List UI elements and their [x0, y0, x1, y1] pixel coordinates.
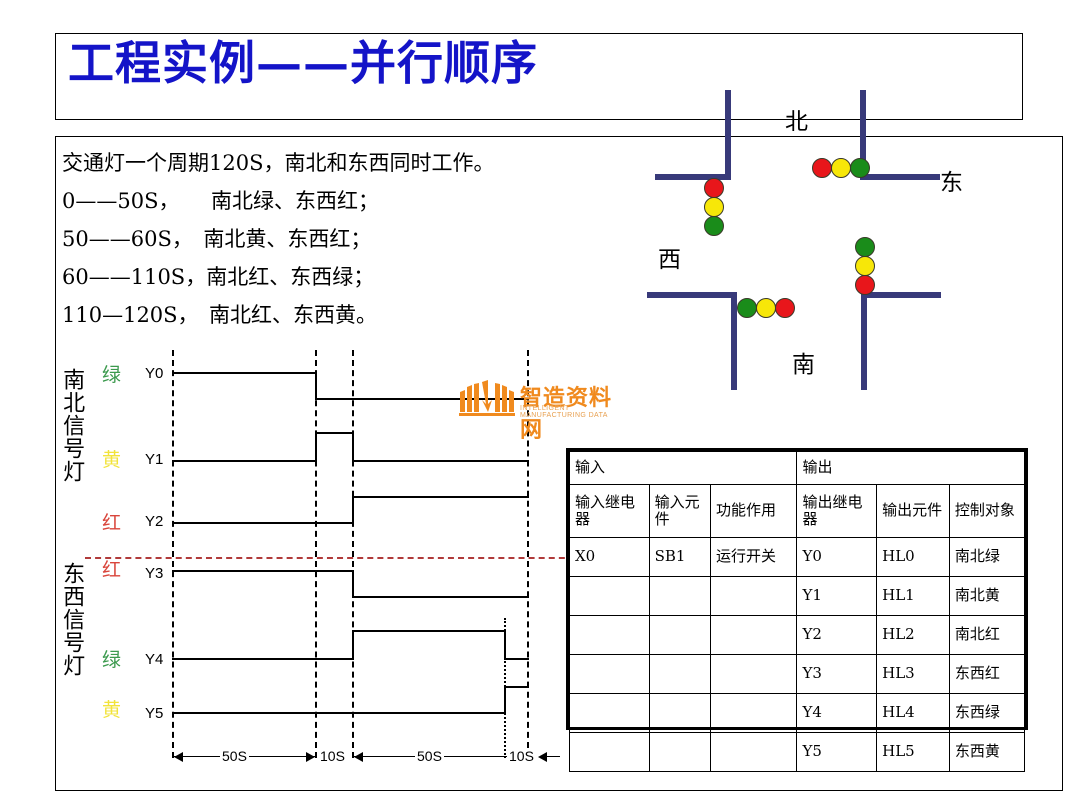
cell-target-2: 南北红: [949, 616, 1024, 655]
timing-color-label-y1: 黄: [102, 445, 121, 472]
timing-signal-label-y5: Y5: [145, 705, 163, 722]
traffic-light-nw-green: [704, 216, 724, 236]
waveform-y1-rise: [315, 432, 317, 462]
timing-dim-arrow-4-left: [538, 752, 547, 762]
table-col-header-output-relay: 输出继电器: [797, 485, 877, 538]
cell-in-relay-5: [570, 733, 650, 772]
table-col-header-input-part: 输入元件: [649, 485, 710, 538]
waveform-y1-low-a: [172, 460, 317, 462]
description-line-5: 110—120S， 南北红、东西黄。: [62, 296, 582, 334]
traffic-light-se-yellow: [855, 256, 875, 276]
cell-out-relay-1: Y1: [797, 577, 877, 616]
waveform-y5-rise: [504, 686, 506, 714]
io-table: 输入 输出 输入继电器 输入元件 功能作用 输出继电器 输出元件 控制对象 X0…: [566, 448, 1028, 730]
road-ne-horizontal: [860, 174, 940, 180]
waveform-y0-high: [172, 372, 317, 374]
table-group-header-input: 输入: [570, 452, 797, 485]
direction-label-north: 北: [785, 102, 808, 136]
timing-dim-arrow-1-right: [306, 752, 315, 762]
table-row: Y2 HL2 南北红: [570, 616, 1025, 655]
waveform-y2-rise: [352, 496, 354, 524]
table-group-header-row: 输入 输出: [570, 452, 1025, 485]
timing-gridline-t50: [315, 350, 317, 758]
watermark: 智造资料网 INTELLIGENT MANUFACTURING DATA: [458, 378, 623, 422]
waveform-y4-low-b: [504, 658, 529, 660]
direction-label-west: 西: [658, 240, 681, 274]
cell-out-part-2: HL2: [877, 616, 950, 655]
waveform-y3-low: [352, 596, 529, 598]
traffic-light-se-green: [855, 237, 875, 257]
timing-dim-label-3: 50S: [415, 748, 444, 764]
table-row: Y5 HL5 东西黄: [570, 733, 1025, 772]
cell-target-5: 东西黄: [949, 733, 1024, 772]
waveform-y3-fall: [352, 570, 354, 598]
traffic-light-nw-red: [704, 178, 724, 198]
timing-color-label-y5: 黄: [102, 695, 121, 722]
cell-target-4: 东西绿: [949, 694, 1024, 733]
cell-out-part-1: HL1: [877, 577, 950, 616]
description-line-1: 交通灯一个周期120S，南北和东西同时工作。: [62, 144, 582, 182]
cell-out-relay-0: Y0: [797, 538, 877, 577]
cell-in-relay-0: X0: [570, 538, 650, 577]
cell-in-relay-3: [570, 655, 650, 694]
description-block: 交通灯一个周期120S，南北和东西同时工作。 0——50S， 南北绿、东西红； …: [62, 144, 582, 334]
timing-color-label-y3: 红: [102, 555, 121, 582]
timing-color-label-y0: 绿: [102, 360, 121, 387]
timing-color-label-y4: 绿: [102, 645, 121, 672]
timing-color-label-y2: 红: [102, 508, 121, 535]
timing-dim-label-2: 10S: [318, 748, 347, 764]
road-se-horizontal: [861, 292, 941, 298]
waveform-y4-high: [352, 630, 506, 632]
traffic-light-sw-green: [737, 298, 757, 318]
table-row: Y4 HL4 东西绿: [570, 694, 1025, 733]
waveform-y1-high: [315, 432, 354, 434]
waveform-y1-fall: [352, 432, 354, 462]
cell-out-relay-3: Y3: [797, 655, 877, 694]
timing-signal-label-y3: Y3: [145, 565, 163, 582]
cell-function-2: [711, 616, 797, 655]
timing-group-separator: [85, 557, 585, 559]
waveform-y0-fall: [315, 372, 317, 400]
table-col-header-function: 功能作用: [711, 485, 797, 538]
cell-in-part-3: [649, 655, 710, 694]
table-col-header-output-part: 输出元件: [877, 485, 950, 538]
cell-out-part-0: HL0: [877, 538, 950, 577]
cell-out-relay-5: Y5: [797, 733, 877, 772]
waveform-y4-rise: [352, 630, 354, 660]
timing-dim-arrow-3-left: [354, 752, 363, 762]
traffic-light-sw-yellow: [756, 298, 776, 318]
direction-label-east: 东: [940, 163, 963, 197]
table-row: X0 SB1 运行开关 Y0 HL0 南北绿: [570, 538, 1025, 577]
cell-out-relay-4: Y4: [797, 694, 877, 733]
cell-out-part-4: HL4: [877, 694, 950, 733]
timing-gridline-t0: [172, 350, 174, 758]
timing-group-label-north-south: 南北信号灯: [60, 368, 83, 483]
waveform-y3-high: [172, 570, 354, 572]
cell-out-relay-2: Y2: [797, 616, 877, 655]
timing-group-label-east-west: 东西信号灯: [60, 562, 83, 677]
direction-label-south: 南: [792, 345, 815, 379]
cell-target-3: 东西红: [949, 655, 1024, 694]
cell-in-relay-1: [570, 577, 650, 616]
cell-function-0: 运行开关: [711, 538, 797, 577]
waveform-y5-high: [504, 686, 529, 688]
timing-dim-arrow-1-left: [174, 752, 183, 762]
table-row: Y1 HL1 南北黄: [570, 577, 1025, 616]
table-group-header-output: 输出: [797, 452, 1025, 485]
timing-signal-label-y2: Y2: [145, 513, 163, 530]
road-nw-vertical: [725, 90, 731, 180]
page-title: 工程实例——并行顺序: [68, 40, 538, 86]
watermark-subtext: INTELLIGENT MANUFACTURING DATA: [520, 405, 623, 419]
cell-in-part-1: [649, 577, 710, 616]
waveform-y4-low-a: [172, 658, 354, 660]
cell-target-0: 南北绿: [949, 538, 1024, 577]
table-col-header-input-relay: 输入继电器: [570, 485, 650, 538]
cell-function-3: [711, 655, 797, 694]
cell-in-part-5: [649, 733, 710, 772]
timing-gridline-t60: [352, 350, 354, 758]
intersection-diagram: 北 东 西 南: [640, 90, 980, 390]
traffic-light-nw-yellow: [704, 197, 724, 217]
waveform-y4-fall: [504, 630, 506, 660]
table-col-header-target: 控制对象: [949, 485, 1024, 538]
timing-dim-line-4: [546, 756, 560, 757]
cell-function-5: [711, 733, 797, 772]
timing-signal-label-y1: Y1: [145, 451, 163, 468]
description-line-2: 0——50S， 南北绿、东西红；: [62, 182, 582, 220]
timing-signal-label-y4: Y4: [145, 651, 163, 668]
cell-in-part-0: SB1: [649, 538, 710, 577]
traffic-light-ne-red: [812, 158, 832, 178]
cell-in-relay-4: [570, 694, 650, 733]
timing-dim-label-4: 10S: [507, 748, 536, 764]
timing-signal-label-y0: Y0: [145, 365, 163, 382]
table-column-header-row: 输入继电器 输入元件 功能作用 输出继电器 输出元件 控制对象: [570, 485, 1025, 538]
description-line-3: 50——60S， 南北黄、东西红；: [62, 220, 582, 258]
traffic-light-ne-yellow: [831, 158, 851, 178]
traffic-light-se-red: [855, 275, 875, 295]
road-sw-horizontal: [647, 292, 737, 298]
cell-in-part-2: [649, 616, 710, 655]
traffic-light-sw-red: [775, 298, 795, 318]
waveform-y5-low: [172, 712, 506, 714]
slide-canvas: 工程实例——并行顺序 交通灯一个周期120S，南北和东西同时工作。 0——50S…: [0, 0, 1080, 810]
waveform-y2-high: [352, 496, 529, 498]
waveform-y2-low: [172, 522, 354, 524]
cell-out-part-3: HL3: [877, 655, 950, 694]
waveform-y1-low-b: [352, 460, 529, 462]
cell-function-1: [711, 577, 797, 616]
road-se-vertical: [861, 292, 867, 390]
description-line-4: 60——110S，南北红、东西绿；: [62, 258, 582, 296]
watermark-logo-icon: [458, 378, 516, 418]
table-row: Y3 HL3 东西红: [570, 655, 1025, 694]
cell-function-4: [711, 694, 797, 733]
cell-in-part-4: [649, 694, 710, 733]
cell-in-relay-2: [570, 616, 650, 655]
cell-target-1: 南北黄: [949, 577, 1024, 616]
cell-out-part-5: HL5: [877, 733, 950, 772]
timing-dim-label-1: 50S: [220, 748, 249, 764]
traffic-light-ne-green: [850, 158, 870, 178]
